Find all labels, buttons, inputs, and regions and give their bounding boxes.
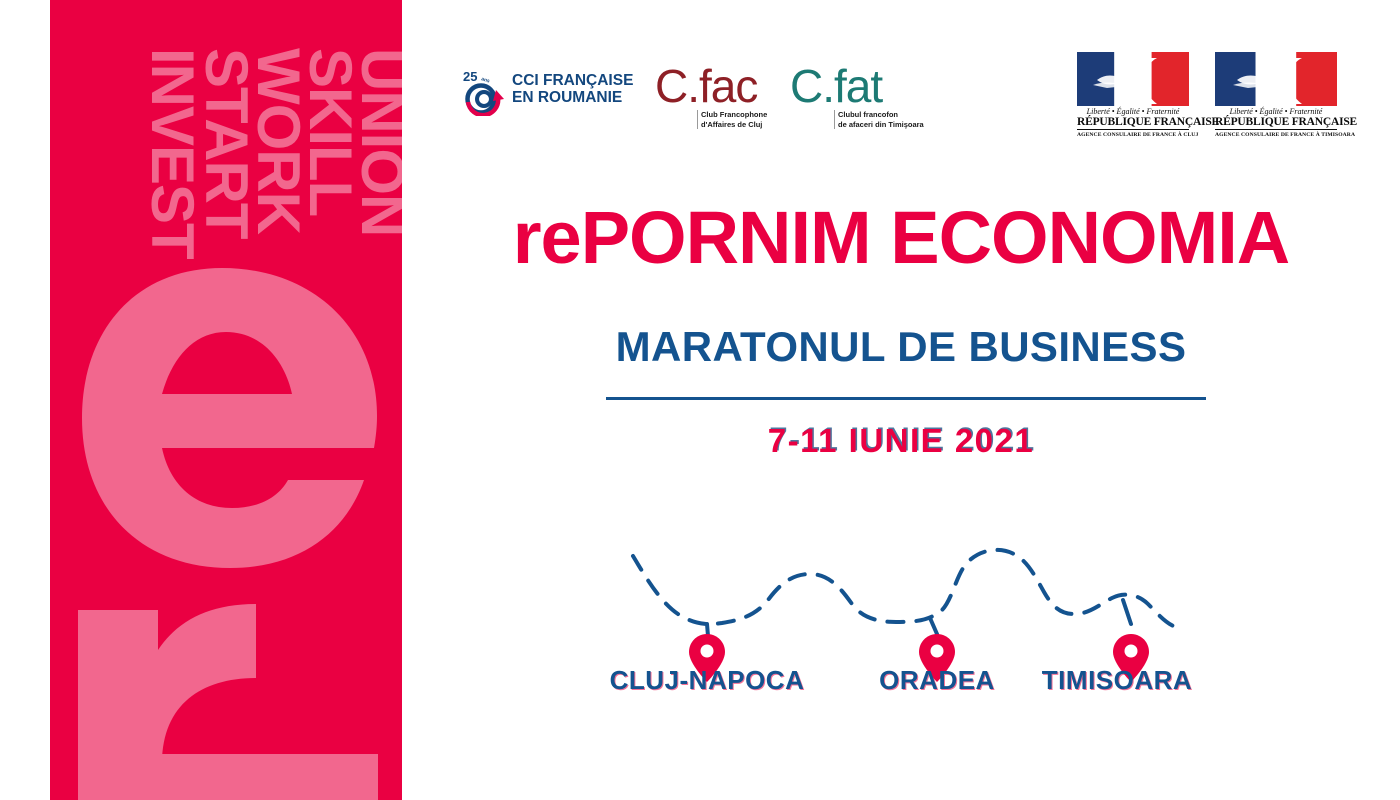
vertical-word-union: UNION: [352, 48, 402, 236]
headline-main: PORNIM ECONOMIA: [581, 196, 1290, 279]
city-label-timisoara: TIMISOARA: [1042, 665, 1192, 696]
city-label-oradea: ORADEA: [879, 665, 995, 696]
cfat-subtitle-line1: Clubul francofon: [838, 110, 924, 120]
cfac-subtitle: Club Francophone d'Affaires de Cluj: [697, 110, 767, 129]
partner-logo-row: 25 ans CCI FRANÇAISE EN ROUMANIE C.fac C…: [455, 50, 1355, 150]
cci-logo-line2: EN ROUMANIE: [512, 89, 633, 106]
event-headline: rePORNIM ECONOMIA: [402, 196, 1400, 280]
re-lettermark-icon: [50, 258, 402, 800]
cfac-wordmark: C.fac: [655, 62, 757, 110]
cci-25-ans-mark-icon: 25 ans: [460, 68, 510, 116]
event-subtitle: MARATONUL DE BUSINESS: [402, 322, 1400, 372]
left-brand-panel: INVEST START WORK SKILL UNION: [50, 0, 402, 800]
event-dateline: 7-11 IUNIE 2021: [402, 420, 1400, 462]
logo-republique-francaise-timisoara[interactable]: Liberté • Égalité • Fraternité RÉPUBLIQU…: [1215, 52, 1337, 136]
cci-logo-text: CCI FRANÇAISE EN ROUMANIE: [512, 72, 633, 106]
route-dashed-path: [633, 550, 1178, 628]
rf-timisoara-agency: AGENCE CONSULAIRE DE FRANCE À TIMISOARA: [1215, 129, 1337, 138]
rf-timisoara-name: RÉPUBLIQUE FRANÇAISE: [1215, 116, 1337, 128]
marianne-tricolor-icon: [1077, 52, 1189, 106]
cfac-subtitle-line2: d'Affaires de Cluj: [701, 120, 767, 130]
cfat-subtitle-line2: de afaceri din Timişoara: [838, 120, 924, 130]
cfac-subtitle-line1: Club Francophone: [701, 110, 767, 120]
headline-prefix: re: [513, 196, 581, 279]
cci-logo-line1: CCI FRANÇAISE: [512, 72, 633, 89]
logo-cfat[interactable]: C.fat Clubul francofon de afaceri din Ti…: [790, 62, 920, 132]
logo-republique-francaise-cluj[interactable]: Liberté • Égalité • Fraternité RÉPUBLIQU…: [1077, 52, 1189, 136]
title-divider: [606, 397, 1206, 400]
logo-cci-francaise-en-roumanie[interactable]: 25 ans CCI FRANÇAISE EN ROUMANIE: [460, 60, 640, 120]
rf-timisoara-motto: Liberté • Égalité • Fraternité: [1215, 107, 1337, 116]
city-label-cluj-napoca: CLUJ-NAPOCA: [610, 665, 805, 696]
rf-cluj-name: RÉPUBLIQUE FRANÇAISE: [1077, 116, 1189, 128]
marianne-tricolor-icon: [1215, 52, 1337, 106]
logo-cfac[interactable]: C.fac Club Francophone d'Affaires de Clu…: [655, 62, 775, 132]
vertical-keyword-stack: INVEST START WORK SKILL UNION: [50, 0, 402, 330]
rf-cluj-agency: AGENCE CONSULAIRE DE FRANCE À CLUJ: [1077, 129, 1189, 138]
poster-canvas: INVEST START WORK SKILL UNION 25 ans CCI…: [0, 0, 1400, 800]
rf-cluj-motto: Liberté • Égalité • Fraternité: [1077, 107, 1189, 116]
svg-text:25: 25: [463, 69, 477, 84]
cfat-wordmark: C.fat: [790, 62, 882, 110]
cfat-subtitle: Clubul francofon de afaceri din Timişoar…: [834, 110, 924, 129]
